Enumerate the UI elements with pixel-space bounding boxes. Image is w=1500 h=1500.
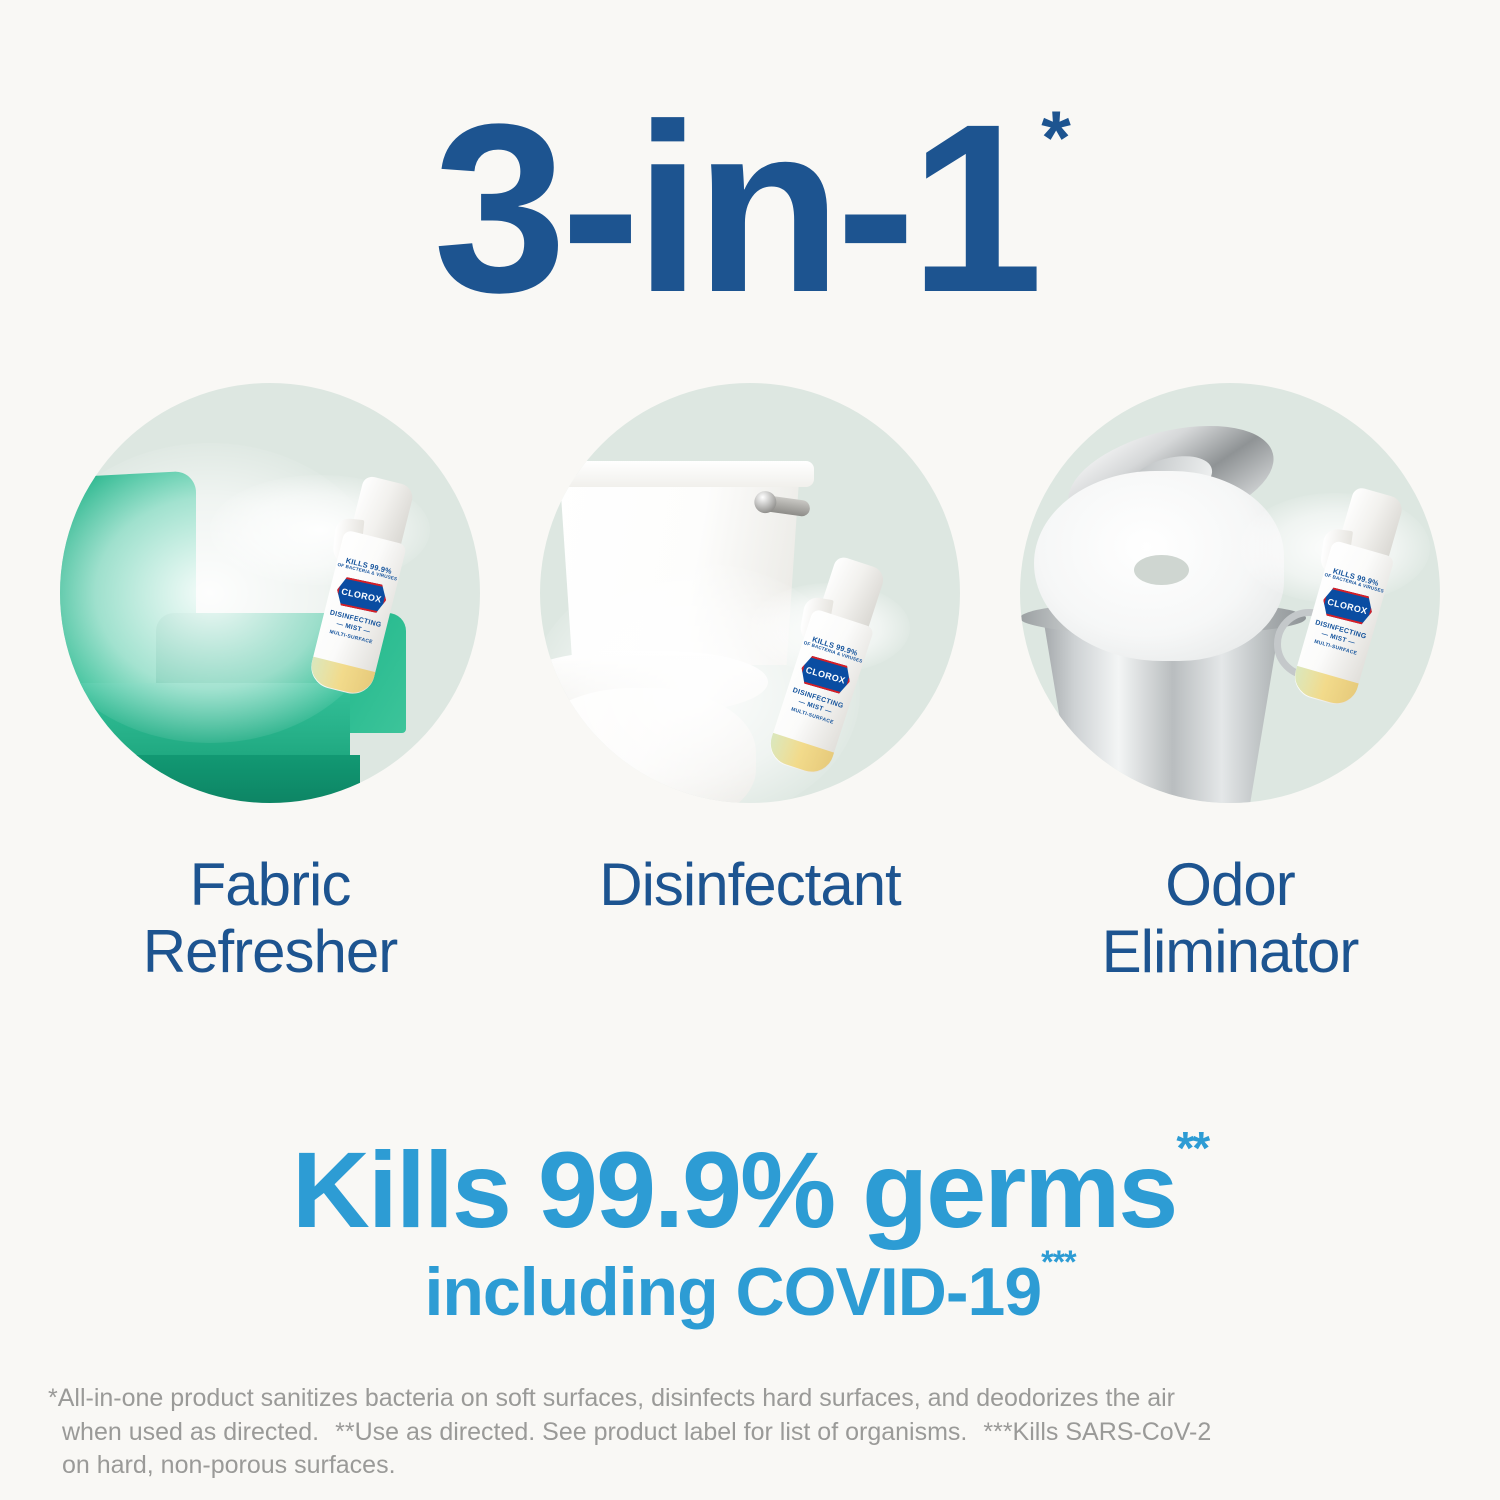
page-title: 3-in-1* — [0, 88, 1500, 328]
hero-title-text: 3-in-1 — [433, 74, 1037, 342]
clorox-logo-icon: CLOROX — [798, 654, 854, 696]
feature-odor-eliminator: KILLS 99.9% OF BACTERIA & VIRUSES CLOROX… — [1020, 383, 1440, 985]
footnote-line-2c: ***Kills SARS-CoV-2 — [983, 1418, 1211, 1446]
feature-caption-disinfectant: Disinfectant — [599, 851, 900, 918]
toilet-bowl-shape — [540, 688, 756, 803]
feature-disinfectant: KILLS 99.9% OF BACTERIA & VIRUSES CLOROX… — [540, 383, 960, 985]
footnote-line-3: on hard, non-porous surfaces. — [48, 1449, 1458, 1483]
spray-bottle: KILLS 99.9% OF BACTERIA & VIRUSES CLOROX… — [1288, 484, 1413, 709]
hero-title-footnote-marker: * — [1041, 96, 1071, 181]
feature-row: KILLS 99.9% OF BACTERIA & VIRUSES CLOROX… — [0, 383, 1500, 985]
feature-image-fabric-refresher: KILLS 99.9% OF BACTERIA & VIRUSES CLOROX… — [60, 383, 480, 803]
trash-bag-shape — [1034, 471, 1284, 661]
caption-line-1: Disinfectant — [599, 851, 900, 918]
clorox-logo-icon: CLOROX — [334, 575, 389, 614]
footnote-line-2b: **Use as directed. See product label for… — [335, 1418, 967, 1446]
feature-caption-fabric-refresher: Fabric Refresher — [143, 851, 397, 985]
feature-image-disinfectant: KILLS 99.9% OF BACTERIA & VIRUSES CLOROX… — [540, 383, 960, 803]
clorox-logo-icon: CLOROX — [1320, 586, 1376, 626]
caption-line-1: Fabric — [143, 851, 397, 918]
footnotes: *All-in-one product sanitizes bacteria o… — [48, 1382, 1458, 1483]
caption-line-2: Eliminator — [1102, 918, 1359, 985]
claim-secondary-text: including COVID-19 — [424, 1254, 1041, 1330]
claim-secondary-line: including COVID-19*** — [0, 1258, 1500, 1326]
caption-line-1: Odor — [1102, 851, 1359, 918]
feature-image-odor-eliminator: KILLS 99.9% OF BACTERIA & VIRUSES CLOROX… — [1020, 383, 1440, 803]
feature-fabric-refresher: KILLS 99.9% OF BACTERIA & VIRUSES CLOROX… — [60, 383, 480, 985]
feature-caption-odor-eliminator: Odor Eliminator — [1102, 851, 1359, 985]
sofa-base-shape — [60, 755, 360, 803]
toilet-tank-lid-shape — [546, 461, 814, 487]
claim-secondary-footnote-marker: *** — [1041, 1244, 1075, 1280]
caption-line-2: Refresher — [143, 918, 397, 985]
claim-primary-text: Kills 99.9% germs — [292, 1129, 1176, 1250]
claim-primary-footnote-marker: ** — [1176, 1122, 1208, 1174]
footnote-line-2: when used as directed.**Use as directed.… — [48, 1416, 1458, 1450]
footnote-line-1: *All-in-one product sanitizes bacteria o… — [48, 1382, 1458, 1416]
footnote-line-2a: when used as directed. — [62, 1418, 319, 1446]
germ-kill-claim: Kills 99.9% germs** including COVID-19**… — [0, 1136, 1500, 1326]
claim-primary-line: Kills 99.9% germs** — [0, 1136, 1500, 1244]
